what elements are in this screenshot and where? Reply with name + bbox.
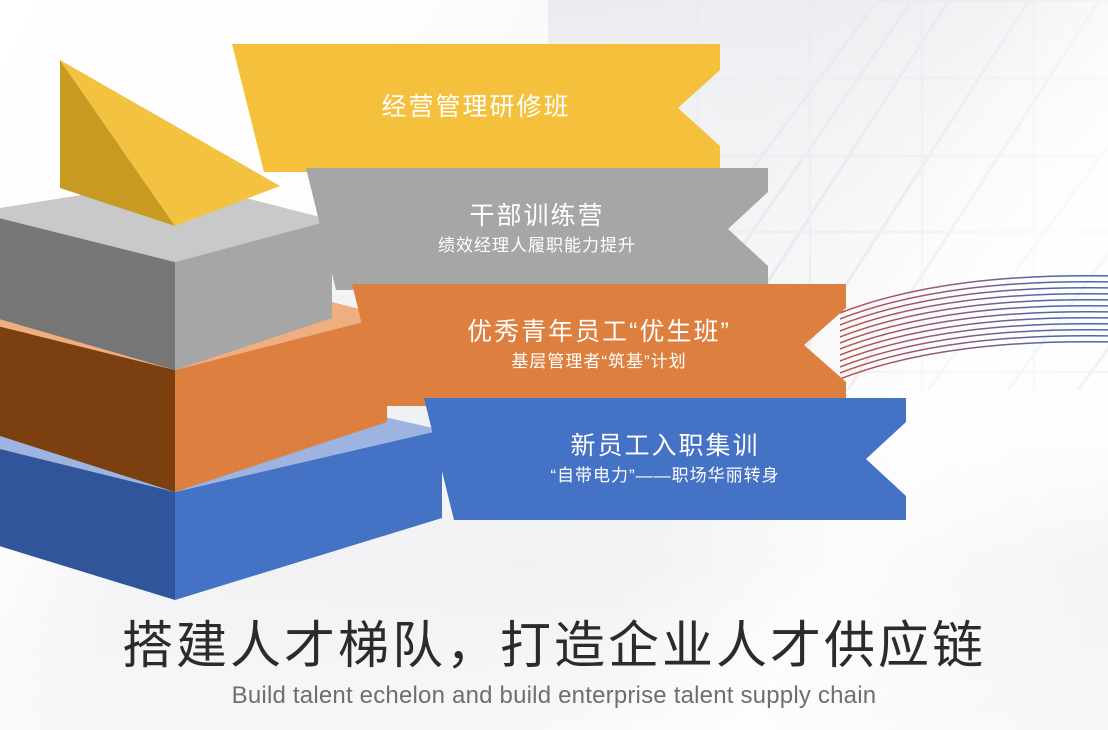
banner-cadre-camp[interactable]: 干部训练营 绩效经理人履职能力提升 [306,168,768,290]
banner-new-employee[interactable]: 新员工入职集训 “自带电力”——职场华丽转身 [424,398,906,520]
sub-headline-english: Build talent echelon and build enterpris… [0,682,1108,710]
banner-title: 新员工入职集训 [570,432,759,462]
banner-title: 干部训练营 [469,202,604,232]
banner-subtitle: 基层管理者“筑基”计划 [511,352,686,372]
banner-title: 经营管理研修班 [381,93,570,123]
banner-title: 优秀青年员工“优生班” [467,318,731,348]
slide-canvas: 经营管理研修班 干部训练营 绩效经理人履职能力提升 优秀青年员工“优生班” 基层… [0,0,1108,730]
banner-subtitle: “自带电力”——职场华丽转身 [550,466,779,486]
banner-youth-class[interactable]: 优秀青年员工“优生班” 基层管理者“筑基”计划 [352,284,846,406]
main-headline: 搭建人才梯队，打造企业人才供应链 [0,604,1108,678]
banner-management-program[interactable]: 经营管理研修班 [232,44,720,172]
banner-subtitle: 绩效经理人履职能力提升 [438,236,636,256]
